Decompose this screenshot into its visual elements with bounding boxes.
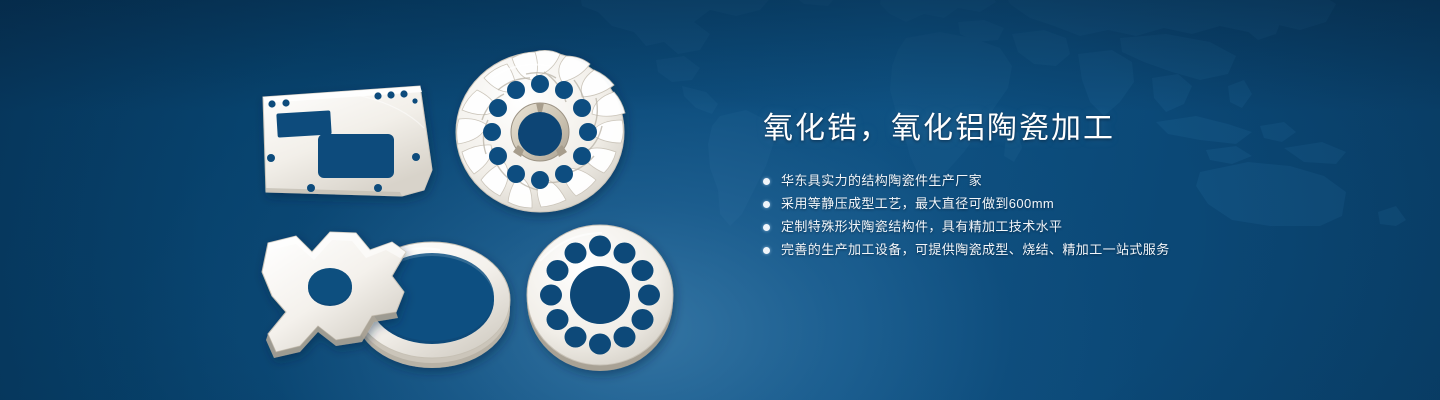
bullet-dot-icon	[763, 224, 770, 231]
list-item-label: 华东具实力的结构陶瓷件生产厂家	[781, 170, 982, 192]
list-item-label: 采用等静压成型工艺，最大直径可做到600mm	[781, 193, 1054, 215]
product-photo-cluster	[0, 0, 740, 400]
list-item: 采用等静压成型工艺，最大直径可做到600mm	[763, 193, 1403, 215]
banner-feature-list: 华东具实力的结构陶瓷件生产厂家 采用等静压成型工艺，最大直径可做到600mm 定…	[763, 170, 1403, 261]
bullet-dot-icon	[763, 178, 770, 185]
list-item-label: 完善的生产加工设备，可提供陶瓷成型、烧结、精加工一站式服务	[781, 239, 1170, 261]
list-item-label: 定制特殊形状陶瓷结构件，具有精加工技术水平	[781, 216, 1062, 238]
hero-banner: 氧化锆，氧化铝陶瓷加工 华东具实力的结构陶瓷件生产厂家 采用等静压成型工艺，最大…	[0, 0, 1440, 400]
ceramic-perforated-disc	[527, 225, 673, 371]
bullet-dot-icon	[763, 247, 770, 254]
ceramic-machined-plate	[263, 86, 432, 196]
bullet-dot-icon	[763, 201, 770, 208]
list-item: 完善的生产加工设备，可提供陶瓷成型、烧结、精加工一站式服务	[763, 239, 1403, 261]
banner-headline: 氧化锆，氧化铝陶瓷加工	[763, 108, 1403, 150]
ceramic-impeller-disc	[456, 50, 625, 212]
list-item: 华东具实力的结构陶瓷件生产厂家	[763, 170, 1403, 192]
banner-text-block: 氧化锆，氧化铝陶瓷加工 华东具实力的结构陶瓷件生产厂家 采用等静压成型工艺，最大…	[763, 108, 1403, 262]
list-item: 定制特殊形状陶瓷结构件，具有精加工技术水平	[763, 216, 1403, 238]
